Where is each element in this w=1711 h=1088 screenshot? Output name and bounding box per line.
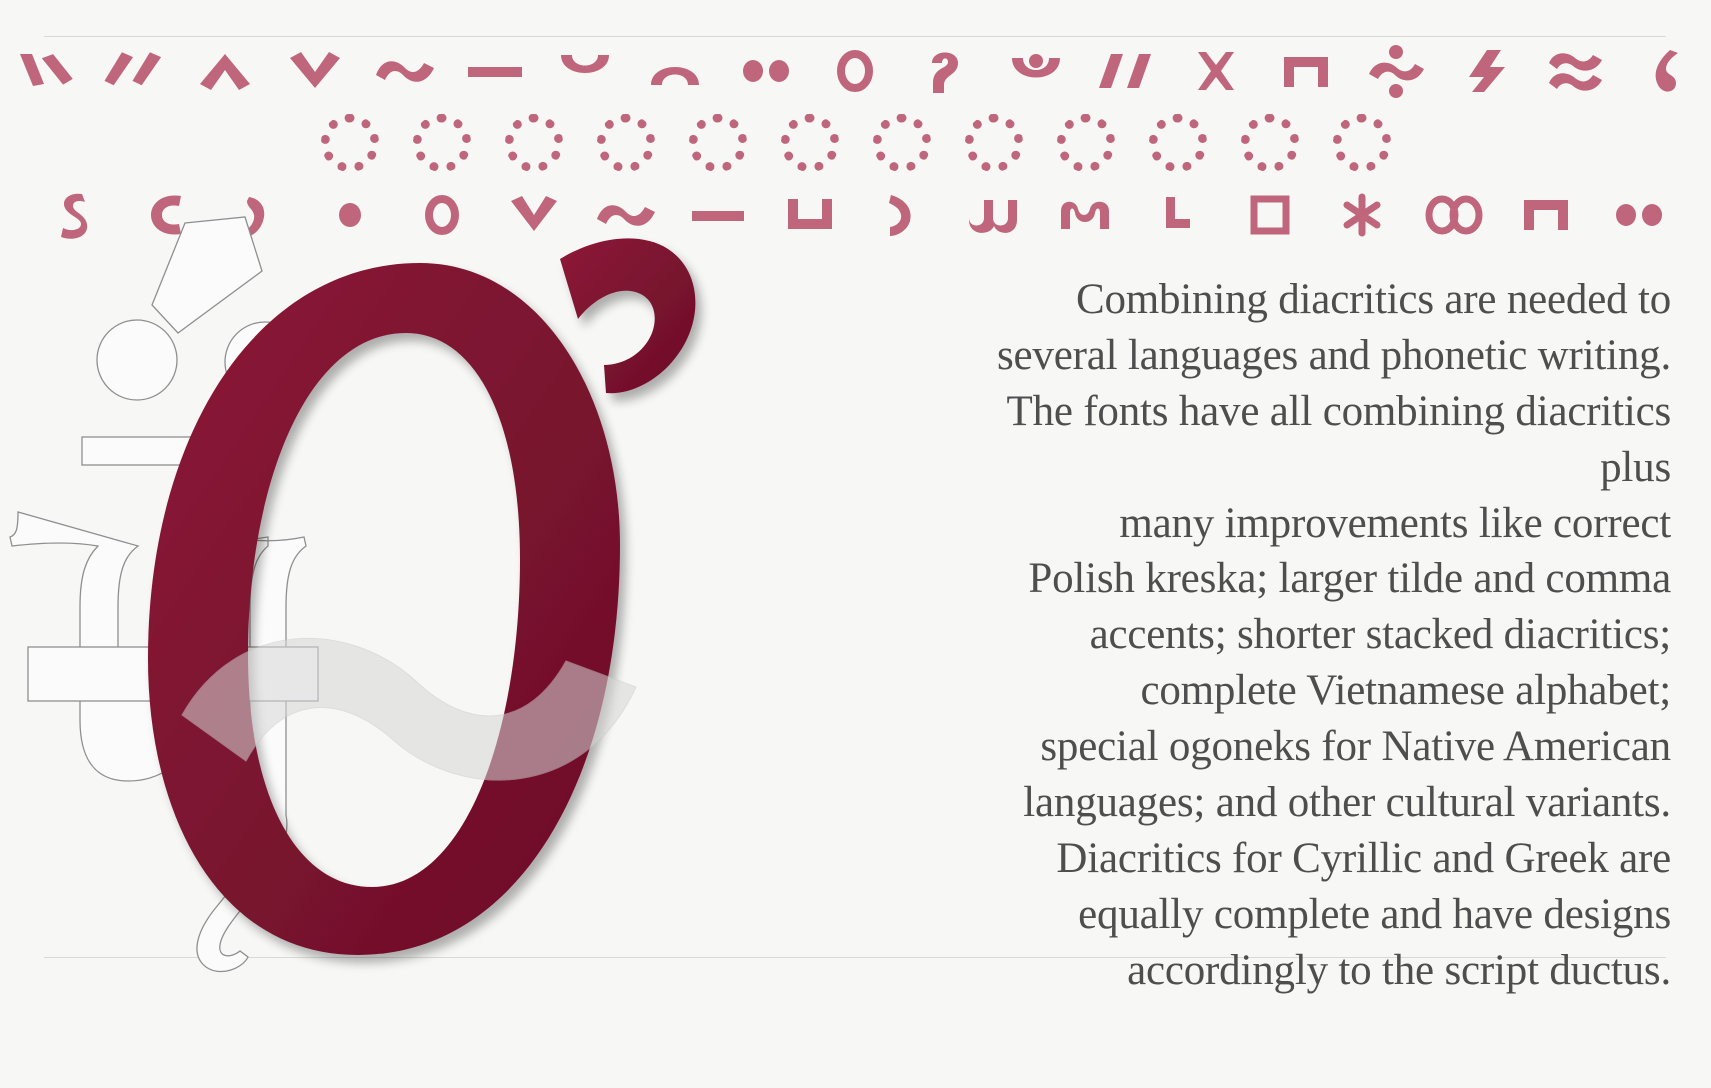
description-line: The fonts have all combining diacritics …	[991, 384, 1671, 496]
circumflex-accent-icon	[180, 40, 270, 102]
diacritic-row-above	[0, 40, 1711, 102]
dotted-circle-icon	[580, 102, 672, 184]
description-line: accordingly to the script ductus.	[991, 943, 1671, 999]
description-line: Polish kreska; larger tilde and comma	[991, 551, 1671, 607]
bridge-above-icon	[1261, 40, 1351, 102]
dotted-circle-icon	[672, 102, 764, 184]
ring-above-icon	[810, 40, 900, 102]
description-line: several languages and phonetic writing.	[991, 328, 1671, 384]
breve-with-dot-above-icon	[991, 40, 1081, 102]
dotted-circle-icon	[1040, 102, 1132, 184]
description-line: accents; shorter stacked diacritics;	[991, 607, 1671, 663]
minus-sign-below-icon	[1132, 184, 1224, 246]
double-arch-below-icon	[948, 184, 1040, 246]
asterisk-below-icon	[1316, 184, 1408, 246]
dotted-circle-icon	[1224, 102, 1316, 184]
caron-icon	[270, 40, 360, 102]
hook-above-icon	[901, 40, 991, 102]
bracket-below-icon	[1500, 184, 1592, 246]
acute-accent-outline	[152, 217, 262, 333]
inverted-breve-icon	[630, 40, 720, 102]
tilde-icon	[360, 40, 450, 102]
macron-icon	[450, 40, 540, 102]
breve-below-icon	[1040, 184, 1132, 246]
double-ring-below-icon	[1408, 184, 1500, 246]
zigzag-above-icon	[1441, 40, 1531, 102]
description-line: many improvements like correct	[991, 496, 1671, 552]
dotted-circle-icon	[764, 102, 856, 184]
display-letter-artwork	[0, 215, 900, 975]
dotted-circle-icon	[1132, 102, 1224, 184]
double-tilde-icon	[1531, 40, 1621, 102]
dotted-circle-icon	[948, 102, 1040, 184]
double-vertical-line-above-icon	[1081, 40, 1171, 102]
description-line: special ogoneks for Native American	[991, 719, 1671, 775]
description-line: Diacritics for Cyrillic and Greek are	[991, 831, 1671, 887]
specimen-page: Combining diacritics are needed to sever…	[0, 0, 1711, 1088]
breve-icon	[540, 40, 630, 102]
dotted-circle-icon	[856, 102, 948, 184]
top-divider-rule	[44, 36, 1666, 37]
dotted-circle-icon	[396, 102, 488, 184]
dotted-circle-icon	[488, 102, 580, 184]
x-above-icon	[1171, 40, 1261, 102]
description-paragraph: Combining diacritics are needed to sever…	[991, 272, 1671, 999]
description-line: Combining diacritics are needed to	[991, 272, 1671, 328]
tilde-with-dots-icon	[1351, 40, 1441, 102]
description-line: equally complete and have designs	[991, 887, 1671, 943]
dotted-circle-icon	[304, 102, 396, 184]
description-line: languages; and other cultural variants.	[991, 775, 1671, 831]
description-line: complete Vietnamese alphabet;	[991, 663, 1671, 719]
double-grave-accent-icon	[0, 40, 90, 102]
dotted-circle-row	[0, 102, 1711, 184]
dotted-circle-icon	[1316, 102, 1408, 184]
square-below-icon	[1224, 184, 1316, 246]
comma-above-icon	[1621, 40, 1711, 102]
double-acute-accent-icon	[90, 40, 180, 102]
diaeresis-icon	[720, 40, 810, 102]
diaeresis-dot-left-outline	[97, 320, 177, 400]
diaeresis-below-icon	[1592, 184, 1684, 246]
